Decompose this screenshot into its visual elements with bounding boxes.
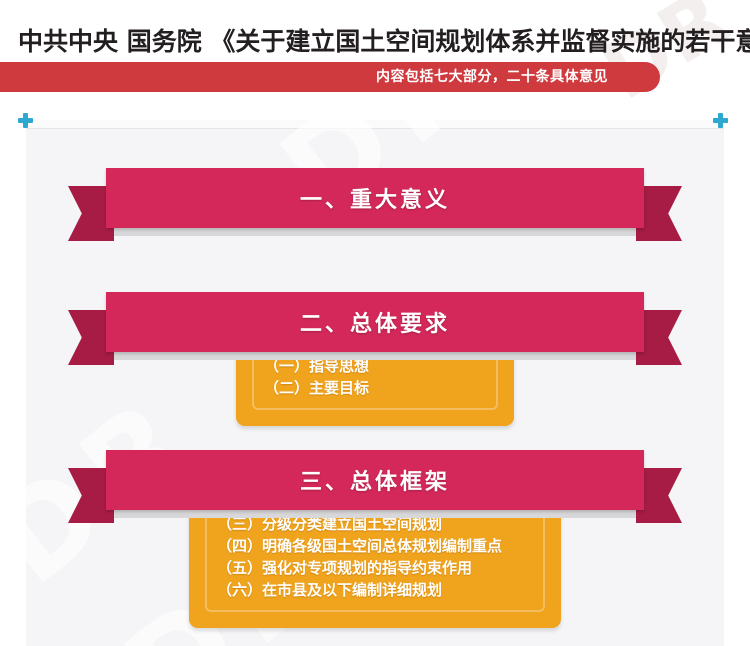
header-subtitle: 内容包括七大部分，二十条具体意见 — [376, 62, 608, 92]
list-item[interactable]: （二）主要目标 — [264, 377, 486, 399]
section-title: 三、总体框架 — [300, 464, 450, 496]
content-panel: DR DR DR 一、重大意义 （一）指导思想 （二）主要目标 — [26, 120, 724, 646]
item-number: （五） — [217, 557, 262, 579]
item-text: 在市县及以下编制详细规划 — [262, 581, 442, 599]
ribbon-banner[interactable]: 三、总体框架 — [106, 450, 644, 510]
item-number: （四） — [217, 535, 262, 557]
section-title: 二、总体要求 — [300, 306, 450, 338]
section-ribbon: 一、重大意义 — [68, 168, 682, 230]
page-header: DR 中共中央 国务院 《关于建立国土空间规划体系并监督实施的若干意见》 内容包… — [0, 0, 750, 100]
item-text: 强化对专项规划的指导约束作用 — [262, 559, 472, 577]
page-title: 中共中央 国务院 《关于建立国土空间规划体系并监督实施的若干意见》 — [18, 22, 750, 58]
item-number: （二） — [264, 377, 309, 399]
panel-top-divider — [26, 120, 724, 129]
section-ribbon: 三、总体框架 — [38, 450, 712, 512]
ribbon-banner[interactable]: 二、总体要求 — [106, 292, 644, 352]
ribbon-banner[interactable]: 一、重大意义 — [106, 168, 644, 228]
plus-cross-icon — [713, 113, 728, 128]
item-text: 主要目标 — [309, 379, 369, 397]
plus-cross-icon — [18, 113, 33, 128]
header-subtitle-bar: 内容包括七大部分，二十条具体意见 — [0, 62, 660, 92]
list-item[interactable]: （四）明确各级国土空间总体规划编制重点 — [217, 535, 533, 557]
list-item[interactable]: （五）强化对专项规划的指导约束作用 — [217, 557, 533, 579]
section-title: 一、重大意义 — [300, 182, 450, 214]
item-number: （六） — [217, 579, 262, 601]
section-block-2: （一）指导思想 （二）主要目标 二、总体要求 — [68, 292, 682, 426]
item-text: 明确各级国土空间总体规划编制重点 — [262, 537, 502, 555]
section-ribbon: 二、总体要求 — [68, 292, 682, 354]
section-block-3: （三）分级分类建立国土空间规划 （四）明确各级国土空间总体规划编制重点 （五）强… — [38, 450, 712, 628]
list-item[interactable]: （六）在市县及以下编制详细规划 — [217, 579, 533, 601]
section-block-1: 一、重大意义 — [68, 168, 682, 230]
card-inner-border: （三）分级分类建立国土空间规划 （四）明确各级国土空间总体规划编制重点 （五）强… — [205, 504, 545, 612]
